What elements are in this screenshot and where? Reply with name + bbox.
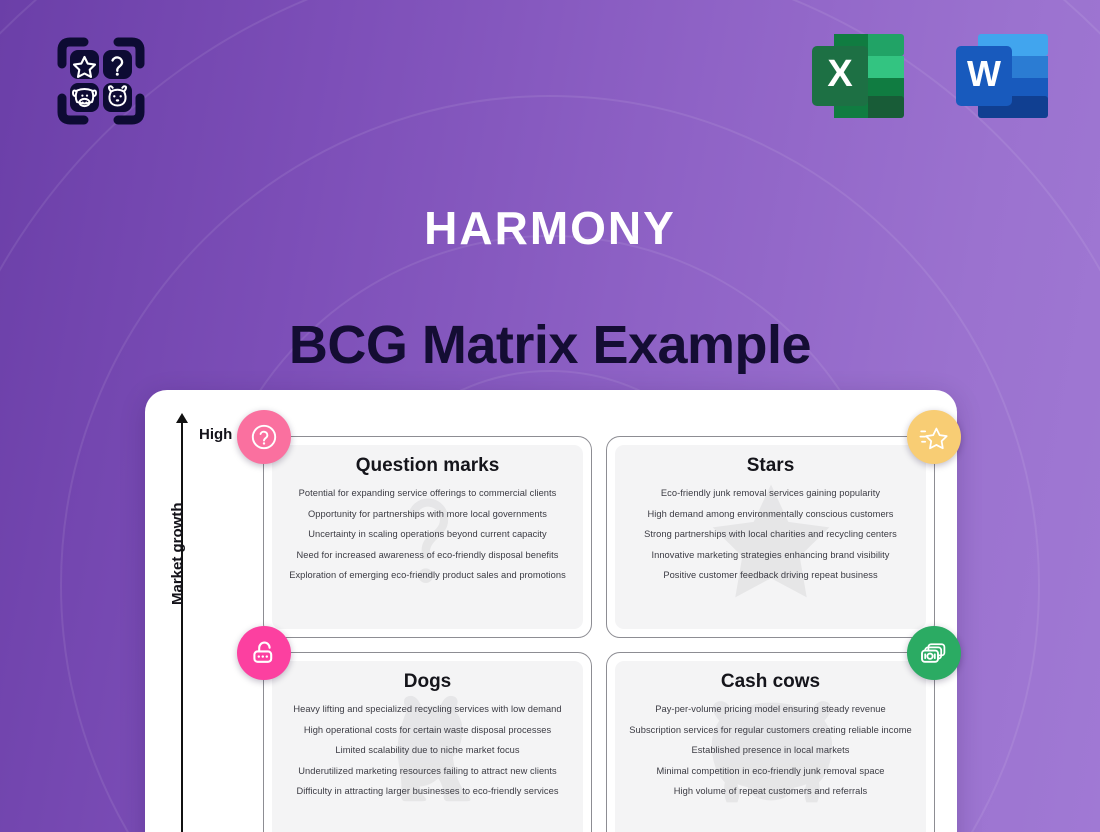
list-item: Eco-friendly junk removal services gaini… (627, 488, 914, 500)
list-item: Limited scalability due to niche market … (284, 745, 571, 757)
logo-icon (48, 28, 154, 134)
shooting-star-icon[interactable] (907, 410, 961, 464)
quadrant-stars[interactable]: Stars Eco-friendly junk removal services… (606, 436, 935, 638)
list-item: Minimal competition in eco-friendly junk… (627, 766, 914, 778)
axis-title: Market growth (169, 502, 186, 605)
question-mark-icon[interactable] (237, 410, 291, 464)
quadrant-title: Question marks (356, 455, 500, 477)
list-item: Potential for expanding service offering… (284, 488, 571, 500)
quadrant-question-marks[interactable]: Question marks Potential for expanding s… (263, 436, 592, 638)
quadrant-items: Eco-friendly junk removal services gaini… (627, 488, 914, 582)
list-item: Uncertainty in scaling operations beyond… (284, 529, 571, 541)
list-item: Positive customer feedback driving repea… (627, 570, 914, 582)
list-item: Pay-per-volume pricing model ensuring st… (627, 704, 914, 716)
list-item: Strong partnerships with local charities… (627, 529, 914, 541)
quadrant-cash-cows[interactable]: Cash cows Pay-per-volume pricing model e… (606, 652, 935, 832)
market-growth-axis (181, 422, 183, 832)
unlocked-padlock-icon[interactable] (237, 626, 291, 680)
slide-canvas: X W HARMONY BCG Matrix Example High Mark… (0, 0, 1100, 832)
word-letter: W (967, 53, 1001, 94)
banknotes-icon[interactable] (907, 626, 961, 680)
quadrant-title: Dogs (404, 671, 452, 693)
axis-high-label: High (199, 426, 232, 443)
excel-letter: X (827, 53, 853, 95)
list-item: Opportunity for partnerships with more l… (284, 509, 571, 521)
bcg-matrix-logo[interactable] (48, 28, 154, 134)
bcg-matrix-card: High Market growth (145, 390, 957, 832)
quadrant-dogs[interactable]: Dogs Heavy lifting and specialized recyc… (263, 652, 592, 832)
quadrant-title: Stars (747, 455, 795, 477)
excel-icon[interactable]: X (808, 28, 908, 124)
list-item: Subscription services for regular custom… (627, 725, 914, 737)
list-item: High demand among environmentally consci… (627, 509, 914, 521)
list-item: Need for increased awareness of eco-frie… (284, 550, 571, 562)
word-icon[interactable]: W (952, 28, 1052, 124)
list-item: Innovative marketing strategies enhancin… (627, 550, 914, 562)
list-item: Underutilized marketing resources failin… (284, 766, 571, 778)
quadrant-title: Cash cows (721, 671, 820, 693)
quadrant-items: Pay-per-volume pricing model ensuring st… (627, 704, 914, 798)
list-item: High volume of repeat customers and refe… (627, 786, 914, 798)
page-title: BCG Matrix Example (0, 315, 1100, 375)
brand-name: HARMONY (0, 205, 1100, 251)
list-item: Established presence in local markets (627, 745, 914, 757)
list-item: Heavy lifting and specialized recycling … (284, 704, 571, 716)
quadrant-items: Heavy lifting and specialized recycling … (284, 704, 571, 798)
office-app-icons: X W (808, 28, 1052, 124)
list-item: Difficulty in attracting larger business… (284, 786, 571, 798)
list-item: High operational costs for certain waste… (284, 725, 571, 737)
list-item: Exploration of emerging eco-friendly pro… (284, 570, 571, 582)
matrix-grid: Question marks Potential for expanding s… (263, 436, 935, 832)
quadrant-items: Potential for expanding service offering… (284, 488, 571, 582)
